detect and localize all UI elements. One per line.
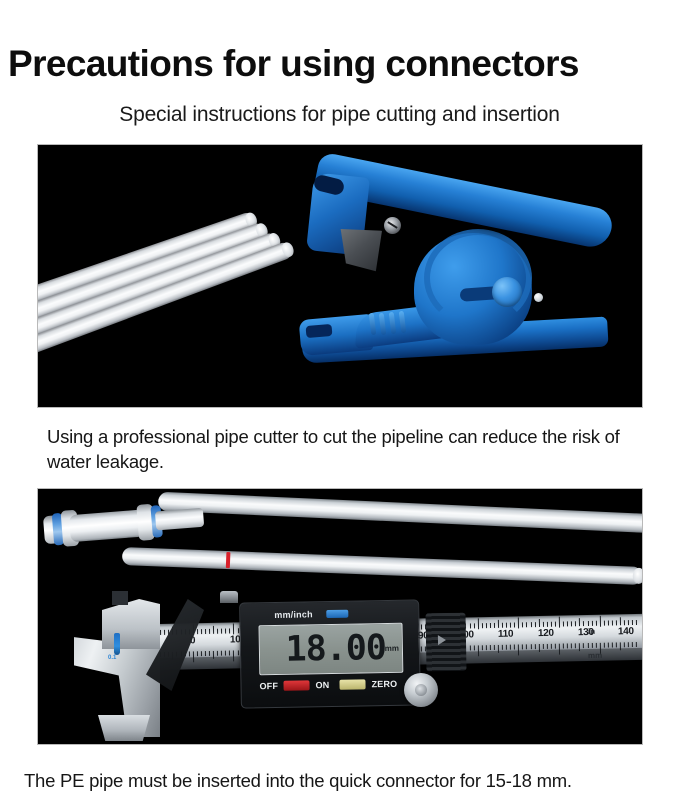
caliper-tick: [160, 630, 161, 635]
caliper-tick: [209, 629, 210, 634]
caliper-button-row: OFF ON ZERO: [259, 677, 407, 696]
caliper-tick: [587, 621, 588, 626]
caliper-tick: [595, 643, 596, 648]
caliper-tick: [229, 628, 230, 633]
caliper-tick: [547, 622, 548, 627]
caliper-tick: [518, 644, 519, 655]
caliper-tick: [599, 616, 600, 627]
caliper-tick: [482, 623, 483, 628]
caliper-tick: [498, 645, 499, 653]
caliper-tick: [616, 620, 617, 625]
caliper-tick: [225, 629, 226, 634]
caliper-tick: [535, 622, 536, 627]
caliper-tick: [225, 651, 226, 656]
caliper-tick: [486, 645, 487, 650]
caliper-tick: [473, 645, 474, 650]
caliper-tick: [579, 643, 580, 651]
caliper-on-label: ON: [315, 680, 329, 690]
caliper-tick: [205, 629, 206, 634]
caliper-mode-label: mm/inch: [274, 609, 313, 620]
caliper-upper-jaw: [102, 599, 160, 649]
connector-outlet-tube: [155, 508, 204, 531]
caliper-tick: [551, 644, 552, 649]
caliper-tick: [620, 617, 621, 625]
page-title: Precautions for using connectors: [8, 42, 673, 86]
caliper-tick: [201, 651, 202, 656]
caliper-tick: [575, 621, 576, 626]
caliper-tick: [628, 642, 629, 647]
caliper-tick: [486, 623, 487, 628]
cutter-pivot-screw: [384, 217, 401, 234]
caliper-tick: [563, 621, 564, 626]
caliper-tick: [632, 620, 633, 625]
caliper-tick: [555, 644, 556, 649]
caliper-tick: [591, 643, 592, 648]
caliper-tick: [636, 642, 637, 647]
pipe-cutting-photo: [38, 145, 642, 407]
caliper-tick: [559, 617, 560, 628]
pipe-cutter-tool: [296, 167, 626, 385]
cutter-rivet: [534, 293, 543, 302]
pe-pipe-lower: [122, 547, 642, 585]
photo-panel-pipe-insertion: 0102090100110120130140150 in mm mm/inch …: [37, 488, 643, 745]
caliper-tick: [221, 629, 222, 634]
caliper-measurement-value: 18.00: [285, 627, 386, 671]
caliper-scale-number: 140: [618, 626, 634, 637]
caliper-vernier-label: 0.1: [108, 655, 116, 661]
caliper-tick: [604, 621, 605, 626]
caliper-tick: [209, 651, 210, 656]
caliper-tick: [506, 623, 507, 628]
caliper-tick: [563, 643, 564, 648]
caliper-zero-button[interactable]: [339, 679, 365, 689]
caliper-tick: [514, 645, 515, 650]
caliper-tick: [514, 623, 515, 628]
caliper-tick: [193, 651, 194, 662]
caliper-tick: [587, 643, 588, 648]
cutter-blade: [338, 229, 382, 273]
caliper-tick: [502, 623, 503, 628]
pe-pipe-upper: [158, 492, 643, 534]
caliper-tick: [526, 644, 527, 649]
photo-panel-pipe-cutting: [37, 144, 643, 408]
caliper-tick: [539, 619, 540, 627]
caliper-ribbed-grip: [425, 613, 466, 672]
caliper-tick: [490, 623, 491, 628]
caliper-tick: [197, 651, 198, 656]
caliper-thumbwheel[interactable]: [404, 673, 438, 707]
insertion-depth-mark: [226, 552, 231, 568]
caliper-tick: [534, 644, 535, 649]
caliper-tick: [632, 642, 633, 647]
caliper-tick: [233, 650, 234, 661]
caliper-vernier-marker: [114, 633, 120, 655]
caliper-off-button[interactable]: [283, 680, 309, 690]
cutter-hub-ring: [424, 229, 532, 327]
caliper-tick: [543, 622, 544, 627]
cutter-handle-slot: [306, 324, 333, 338]
caliper-tick: [620, 642, 621, 650]
caliper-tick: [616, 642, 617, 647]
caliper-tick: [583, 621, 584, 626]
caption-pipe-insertion: The PE pipe must be inserted into the qu…: [24, 768, 674, 793]
digital-caliper: 0102090100110120130140150 in mm mm/inch …: [52, 591, 643, 741]
caliper-tick: [473, 623, 474, 628]
caliper-tick: [555, 622, 556, 627]
caliper-tick: [420, 646, 421, 651]
caliper-tick: [551, 622, 552, 627]
caliper-tick: [502, 645, 503, 650]
caliper-tick: [221, 651, 222, 656]
connector-body: [69, 509, 145, 542]
caliper-tick: [608, 621, 609, 626]
caliper-zero-label: ZERO: [371, 679, 397, 689]
caliper-tick: [539, 644, 540, 652]
caliper-tick: [469, 645, 470, 650]
caliper-tick: [469, 623, 470, 628]
caliper-tick: [547, 644, 548, 649]
caliper-tick: [197, 629, 198, 634]
caliper-tick: [592, 621, 593, 626]
caliper-tick: [624, 642, 625, 647]
caliper-tick: [510, 623, 511, 628]
caliper-tick: [636, 620, 637, 625]
page-subtitle: Special instructions for pipe cutting an…: [0, 101, 679, 128]
caliper-tick: [233, 623, 234, 634]
caliper-lcd-module: mm/inch 18.00 mm OFF ON ZERO: [239, 599, 421, 708]
caliper-tick: [522, 622, 523, 627]
caliper-tick: [628, 620, 629, 625]
caliper-scale-number: 110: [498, 629, 513, 640]
caption-pipe-cutting: Using a professional pipe cutter to cut …: [47, 424, 647, 474]
caliper-tick: [608, 643, 609, 648]
caliper-tick: [583, 643, 584, 648]
caliper-grip-arrow-icon: [438, 635, 446, 645]
caliper-lock-screw: [220, 591, 238, 603]
caliper-unit-inch-label: in: [588, 627, 595, 636]
caliper-tick: [526, 622, 527, 627]
caliper-tick: [530, 644, 531, 649]
caliper-lcd-screen: 18.00 mm: [258, 623, 403, 676]
caliper-tick: [567, 621, 568, 626]
caliper-tick: [164, 630, 165, 635]
caliper-tick: [213, 626, 214, 634]
caliper-tick: [494, 645, 495, 650]
caliper-tick: [217, 629, 218, 634]
caliper-unit-mm-label: mm: [588, 651, 602, 660]
caliper-tick: [612, 620, 613, 625]
caliper-tick: [624, 620, 625, 625]
caliper-tick: [188, 651, 189, 656]
caliper-measurement-unit: mm: [385, 644, 399, 653]
caliper-tick: [567, 643, 568, 648]
caliper-tick: [506, 645, 507, 650]
caliper-tick: [205, 651, 206, 656]
caliper-tick: [543, 644, 544, 649]
caliper-tick: [217, 651, 218, 656]
caliper-tick: [530, 622, 531, 627]
caliper-tick: [494, 623, 495, 628]
caliper-tick: [571, 621, 572, 626]
caliper-tick: [510, 645, 511, 650]
caliper-tick: [229, 650, 230, 655]
caliper-tick: [604, 643, 605, 648]
caliper-tick: [571, 643, 572, 648]
caliper-tick: [421, 624, 422, 629]
caliper-tick: [237, 628, 238, 633]
caliper-tick: [477, 618, 478, 629]
caliper-tick: [575, 643, 576, 648]
caliper-thumbwheel-hub: [415, 684, 427, 696]
caliper-tick: [490, 645, 491, 650]
caliper-tick: [477, 645, 478, 656]
caliper-tick: [522, 644, 523, 649]
caliper-tick: [201, 629, 202, 634]
caliper-tick: [482, 645, 483, 650]
caliper-depth-rod: [112, 591, 128, 605]
caliper-tick: [213, 651, 214, 659]
caliper-tick: [518, 617, 519, 628]
caliper-tick: [579, 618, 580, 626]
caliper-tick: [559, 644, 560, 655]
caliper-tick: [237, 650, 238, 655]
caliper-tick: [612, 642, 613, 647]
caliper-tick: [596, 621, 597, 626]
caliper-tick: [498, 620, 499, 628]
caliper-jaw-blade: [98, 715, 150, 741]
pipe-insertion-photo: 0102090100110120130140150 in mm mm/inch …: [38, 489, 642, 744]
cutter-thumb-knob: [492, 277, 522, 307]
caliper-off-label: OFF: [259, 681, 278, 691]
caliper-scale-number: 120: [538, 628, 554, 639]
caliper-mm-inch-button[interactable]: [326, 610, 348, 618]
